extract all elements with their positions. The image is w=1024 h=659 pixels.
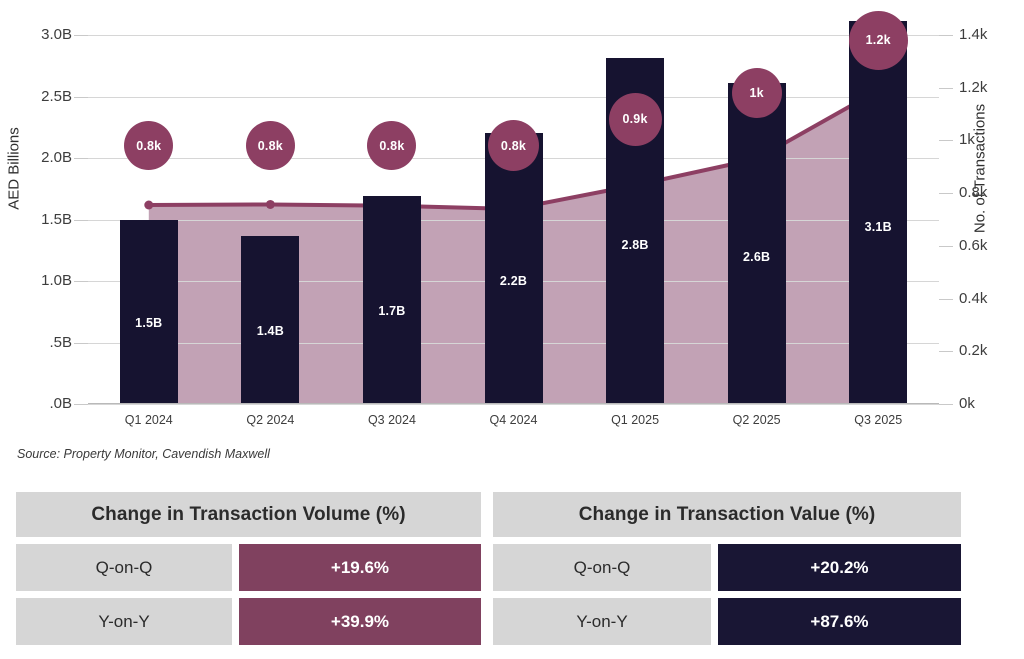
kpi-row-label: Q-on-Q [493,544,711,591]
y-tick-left [74,343,88,344]
y-axis-label-left: 2.0B [12,149,72,166]
y-axis-label-left: .5B [12,334,72,351]
y-tick-left [74,281,88,282]
transactions-bubble[interactable]: 0.9k [609,93,662,146]
gridline [88,97,939,98]
y-tick-right [939,404,953,405]
x-axis-label: Q3 2024 [331,413,453,427]
bar[interactable]: 3.1B [849,21,907,404]
chart-container: AED Billions No. of Transactions 1.5B1.4… [0,0,1024,470]
kpi-row-label: Y-on-Y [493,598,711,645]
y-axis-label-right: 0.2k [959,342,1019,359]
kpi-row-value: +87.6% [718,598,961,645]
y-axis-label-right: 0k [959,395,1019,412]
y-axis-label-right: 0.4k [959,290,1019,307]
x-axis-label: Q4 2024 [453,413,575,427]
x-axis-label: Q1 2024 [88,413,210,427]
kpi-row: Y-on-Y+87.6% [493,598,961,645]
kpi-row-label: Y-on-Y [16,598,232,645]
bar[interactable]: 2.2B [485,133,543,404]
gridline [88,404,939,405]
bar[interactable]: 1.7B [363,196,421,404]
x-axis-label: Q2 2025 [696,413,818,427]
transactions-bubble[interactable]: 1.2k [849,11,908,70]
bar-value-label: 2.6B [728,250,786,264]
bar-value-label: 2.2B [485,274,543,288]
kpi-row: Y-on-Y+39.9% [16,598,481,645]
kpi-table-transaction-volume: Change in Transaction Volume (%)Q-on-Q+1… [16,492,481,645]
y-tick-right [939,299,953,300]
y-tick-right [939,193,953,194]
y-tick-left [74,220,88,221]
bar[interactable]: 1.5B [120,220,178,405]
y-tick-right [939,35,953,36]
kpi-table-header: Change in Transaction Value (%) [493,492,961,537]
transactions-bubble[interactable]: 0.8k [246,121,295,170]
bar-value-label: 3.1B [849,220,907,234]
y-tick-right [939,351,953,352]
kpi-row-value: +20.2% [718,544,961,591]
y-axis-label-right: 1.4k [959,26,1019,43]
x-axis-label: Q1 2025 [574,413,696,427]
y-tick-left [74,404,88,405]
bar[interactable]: 1.4B [241,236,299,405]
x-axis-label: Q3 2025 [817,413,939,427]
y-axis-label-left: 3.0B [12,26,72,43]
y-axis-label-left: .0B [12,395,72,412]
y-axis-label-right: 1.2k [959,79,1019,96]
y-axis-label-left: 1.0B [12,272,72,289]
plot-area: 1.5B1.4B1.7B2.2B2.8B2.6B3.1B0.8k0.8k0.8k… [88,35,939,404]
y-tick-right [939,88,953,89]
y-axis-label-left: 2.5B [12,88,72,105]
y-axis-label-right: 0.6k [959,237,1019,254]
x-axis-label: Q2 2024 [210,413,332,427]
gridline [88,35,939,36]
kpi-row: Q-on-Q+20.2% [493,544,961,591]
y-tick-left [74,158,88,159]
y-axis-label-right: 1k [959,131,1019,148]
bar-value-label: 1.4B [241,324,299,338]
kpi-tables: Change in Transaction Volume (%)Q-on-Q+1… [0,492,1024,659]
kpi-row-value: +19.6% [239,544,481,591]
y-axis-label-right: 0.8k [959,184,1019,201]
bar[interactable]: 2.6B [728,83,786,404]
y-tick-left [74,97,88,98]
kpi-table-header: Change in Transaction Volume (%) [16,492,481,537]
y-tick-right [939,140,953,141]
kpi-table-transaction-value: Change in Transaction Value (%)Q-on-Q+20… [493,492,961,645]
bar-value-label: 1.5B [120,316,178,330]
transactions-bubble[interactable]: 0.8k [488,120,539,171]
line-point-marker [266,200,275,209]
kpi-row-label: Q-on-Q [16,544,232,591]
y-axis-label-left: 1.5B [12,211,72,228]
y-tick-left [74,35,88,36]
x-axis-baseline [88,403,939,404]
line-point-marker [144,201,153,210]
bar-value-label: 1.7B [363,304,421,318]
kpi-row-value: +39.9% [239,598,481,645]
y-tick-right [939,246,953,247]
kpi-row: Q-on-Q+19.6% [16,544,481,591]
source-note: Source: Property Monitor, Cavendish Maxw… [17,447,270,461]
y-axis-title-right: No. of Transactions [972,89,989,249]
transactions-bubble[interactable]: 1k [732,68,782,118]
bar-value-label: 2.8B [606,238,664,252]
